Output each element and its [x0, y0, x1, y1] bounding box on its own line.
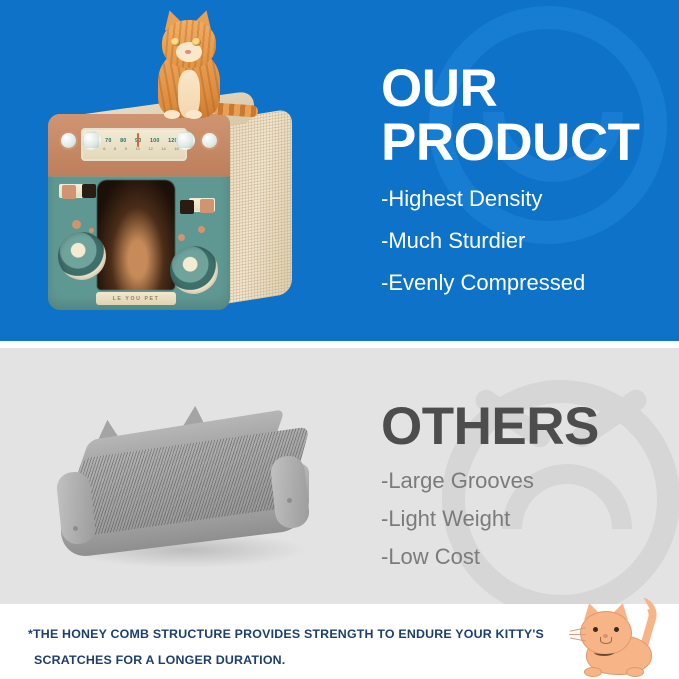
dial-needle: [137, 133, 139, 147]
orange-tabby-cat-photo: [138, 8, 250, 120]
decor-dot: [89, 228, 94, 233]
bullet-item: -Light Weight: [381, 500, 671, 538]
deck-button-c: [180, 200, 194, 214]
bullet-item: -Much Sturdier: [381, 220, 671, 262]
radio-speaker-left: [58, 232, 106, 280]
bullet-item: -Highest Density: [381, 178, 671, 220]
our-product-heading: OUR PRODUCT: [381, 62, 671, 170]
cat-nose: [185, 50, 191, 54]
cat-house-opening: [97, 180, 175, 290]
cat-icon-eye-left: [593, 627, 598, 632]
others-heading: OTHERS: [381, 400, 671, 454]
dial-tick: 70: [105, 138, 111, 144]
radio-knob-left-inner: [82, 131, 101, 150]
orange-cartoon-cat-icon: [574, 601, 670, 679]
dial-tick-small: 14: [161, 146, 165, 151]
dial-tick: 100: [150, 138, 160, 144]
radio-speaker-right: [170, 246, 218, 294]
cat-icon-whisker: [569, 634, 586, 635]
scratcher-screw: [73, 526, 78, 531]
bullet-item: -Large Grooves: [381, 462, 671, 500]
footer-disclaimer: *THE HONEY COMB STRUCTURE PROVIDES STREN…: [28, 621, 558, 673]
heading-line-2: PRODUCT: [381, 116, 671, 170]
dial-tick-small: 8: [114, 146, 116, 151]
dial-tick-small: 6: [103, 146, 105, 151]
brand-plate: LE YOU PET: [96, 292, 176, 305]
others-bullet-list: -Large Grooves -Light Weight -Low Cost: [381, 462, 671, 576]
footer-line-1: *THE HONEY COMB STRUCTURE PROVIDES STREN…: [28, 627, 544, 641]
bullet-item: -Evenly Compressed: [381, 262, 671, 304]
cat-icon-collar: [594, 649, 614, 656]
footer-line-2: SCRATCHES FOR A LONGER DURATION.: [28, 647, 558, 673]
decor-dot: [198, 226, 205, 233]
cat-icon-paw-right: [626, 667, 644, 677]
product-radio-front: 60 70 80 90 100 120 5M 6 8 9 10 12: [48, 114, 230, 310]
cat-icon-mouth: [600, 637, 612, 644]
cat-icon-paw-left: [584, 667, 602, 677]
radio-knob-left-outer: [59, 131, 78, 150]
infographic-canvas: 60 70 80 90 100 120 5M 6 8 9 10 12: [0, 0, 679, 679]
cat-eye-left: [171, 38, 180, 46]
cat-paw-left: [164, 110, 180, 119]
our-product-bullet-list: -Highest Density -Much Sturdier -Evenly …: [381, 178, 671, 304]
dial-tick-small: 12: [148, 146, 152, 151]
scratcher-screw: [287, 498, 292, 503]
deck-button-b: [82, 184, 96, 198]
decor-dot: [178, 234, 185, 241]
radio-knob-right-outer: [200, 131, 219, 150]
radio-knob-right-inner: [176, 131, 195, 150]
deck-button-a: [62, 185, 76, 199]
cat-icon-eye-right: [614, 627, 619, 632]
deck-button-d: [200, 199, 214, 213]
our-product-panel: 60 70 80 90 100 120 5M 6 8 9 10 12: [0, 0, 679, 341]
others-product-image: [45, 400, 345, 590]
dial-tick: 80: [120, 138, 126, 144]
scratcher-screw: [185, 512, 190, 517]
our-product-image: 60 70 80 90 100 120 5M 6 8 9 10 12: [38, 8, 338, 333]
decor-dot: [72, 220, 81, 229]
bullet-item: -Low Cost: [381, 538, 671, 576]
dial-tick-small: 9: [125, 146, 127, 151]
heading-line-1: OUR: [381, 62, 671, 116]
cat-paw-right: [186, 110, 202, 119]
cat-eye-right: [192, 38, 201, 46]
